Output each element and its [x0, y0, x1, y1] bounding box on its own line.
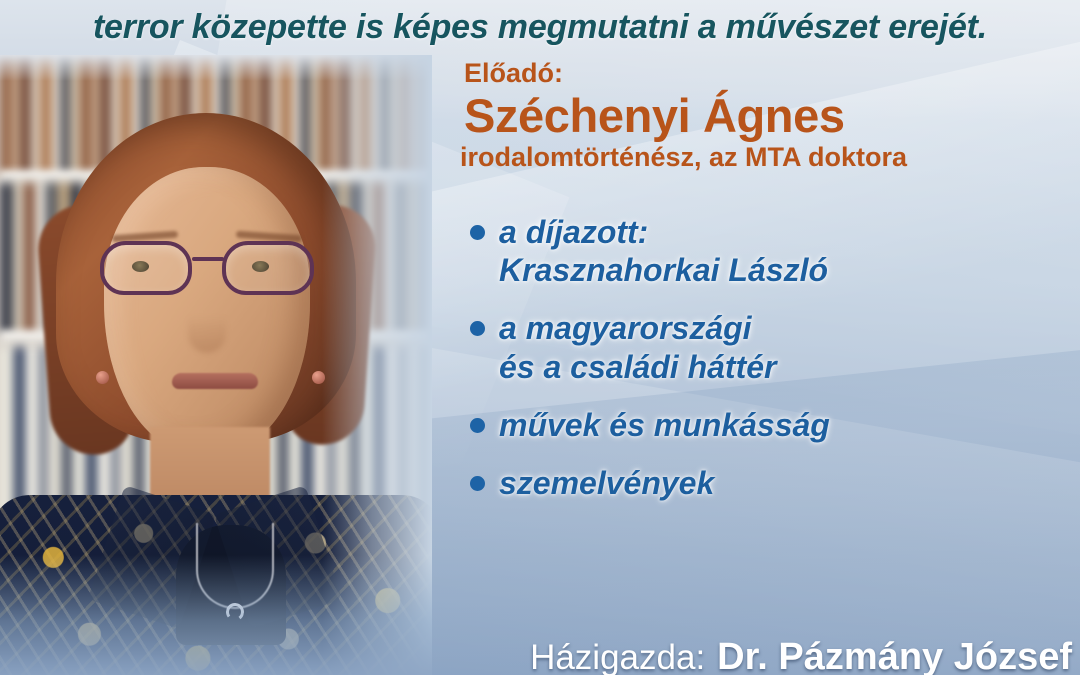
- photo-fade-bottom: [0, 555, 432, 675]
- eyeglasses: [98, 241, 318, 297]
- bullet-dot-icon: [470, 321, 485, 336]
- list-item: szemelvények: [460, 464, 1080, 502]
- list-item: művek és munkásság: [460, 406, 1080, 444]
- presentation-slide: terror közepette is képes megmutatni a m…: [0, 0, 1080, 675]
- lens-left: [100, 241, 192, 295]
- list-item-label: a díjazott: Krasznahorkai László: [499, 213, 828, 290]
- list-item: a díjazott: Krasznahorkai László: [460, 213, 1080, 290]
- topic-list: a díjazott: Krasznahorkai László a magya…: [460, 213, 1080, 503]
- headline-band: terror közepette is képes megmutatni a m…: [0, 0, 1080, 55]
- list-item-label: szemelvények: [499, 464, 714, 502]
- host-label: Házigazda:: [530, 638, 705, 675]
- nose: [188, 291, 226, 353]
- list-item: a magyarországi és a családi háttér: [460, 309, 1080, 386]
- glasses-bridge: [192, 257, 224, 261]
- mouth: [172, 373, 258, 389]
- content-column: Előadó: Széchenyi Ágnes irodalomtörténés…: [440, 60, 1080, 523]
- lens-right: [222, 241, 314, 295]
- list-item-label: művek és munkásság: [499, 406, 830, 444]
- bullet-dot-icon: [470, 225, 485, 240]
- speaker-label: Előadó:: [464, 60, 1080, 87]
- bullet-dot-icon: [470, 418, 485, 433]
- speaker-name: Széchenyi Ágnes: [464, 91, 1080, 141]
- photo-backdrop: [0, 55, 432, 675]
- earring-left: [96, 371, 109, 384]
- speaker-credentials: irodalomtörténész, az MTA doktora: [460, 143, 1080, 173]
- list-item-label: a magyarországi és a családi háttér: [499, 309, 776, 386]
- host-line: Házigazda: Dr. Pázmány József: [530, 636, 1072, 675]
- headline-text: terror közepette is képes megmutatni a m…: [93, 8, 987, 47]
- bullet-dot-icon: [470, 476, 485, 491]
- speaker-photo: [0, 55, 432, 675]
- host-name: Dr. Pázmány József: [717, 636, 1072, 675]
